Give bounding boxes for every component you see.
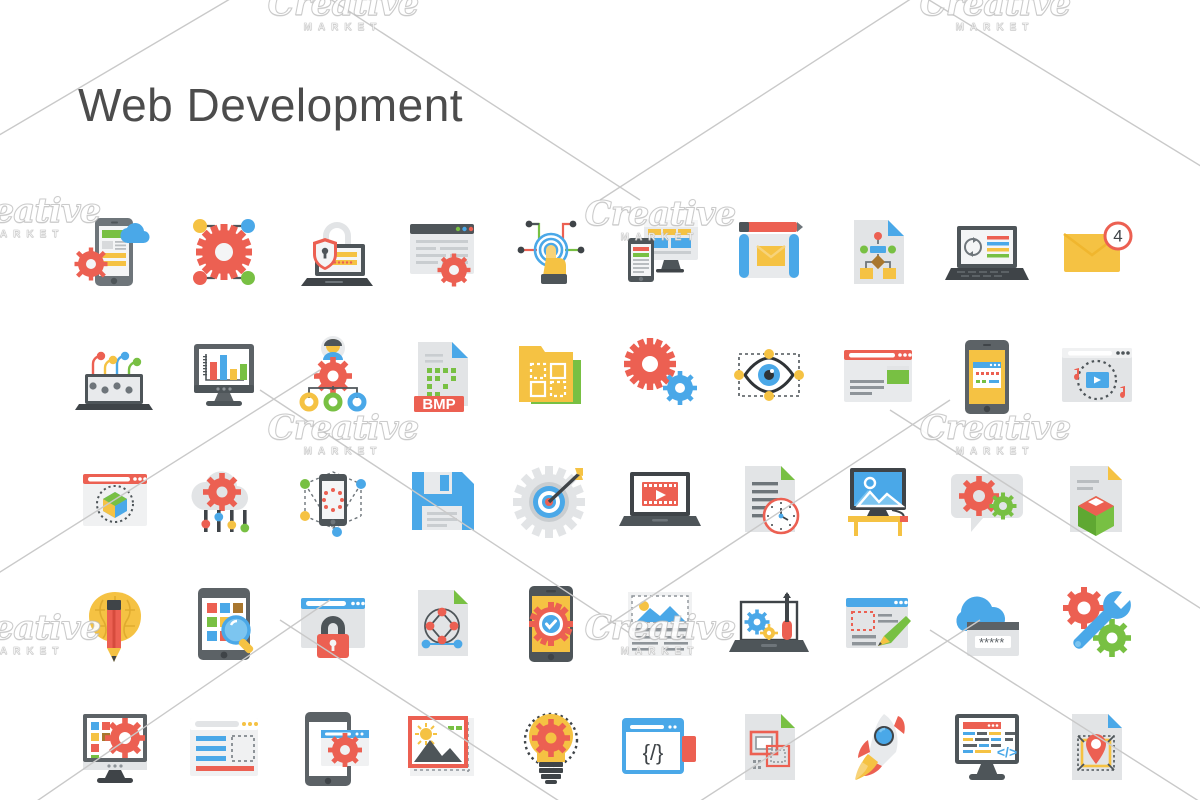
laptop-connections-icon[interactable] <box>60 314 169 438</box>
image-gallery-icon[interactable] <box>387 686 496 810</box>
touch-interaction-icon[interactable] <box>496 190 605 314</box>
monitor-bar-chart-icon[interactable] <box>169 314 278 438</box>
bmp-file-label: BMP <box>422 396 455 413</box>
laptop-maintenance-icon[interactable] <box>714 562 823 686</box>
bmp-file-icon[interactable]: BMP <box>387 314 496 438</box>
browser-code-icon[interactable]: {/} <box>605 686 714 810</box>
email-badge-count: 4 <box>1113 227 1122 246</box>
target-gear-icon[interactable] <box>496 438 605 562</box>
brain-pencil-icon[interactable] <box>60 562 169 686</box>
tablet-browser-gear-icon[interactable] <box>278 686 387 810</box>
laptop-video-icon[interactable] <box>605 438 714 562</box>
gears-settings-icon[interactable] <box>605 314 714 438</box>
browser-wireframe-icon[interactable] <box>169 686 278 810</box>
monitor-code-icon[interactable]: </> <box>932 686 1041 810</box>
monitor-code-text: </> <box>996 744 1016 760</box>
chat-gears-icon[interactable] <box>932 438 1041 562</box>
svg-text:*****: ***** <box>979 635 1004 650</box>
cloud-password-icon[interactable]: ***** <box>932 562 1041 686</box>
watermark-main-text: Creative <box>900 0 1090 20</box>
mobile-webpage-icon[interactable] <box>932 314 1041 438</box>
email-notification-icon[interactable]: 4 <box>1041 190 1150 314</box>
browser-lock-icon[interactable] <box>278 562 387 686</box>
document-vector-node-icon[interactable] <box>387 562 496 686</box>
watermark-main-text: Creative <box>248 0 438 20</box>
browser-content-icon[interactable] <box>823 314 932 438</box>
cloud-gear-settings-icon[interactable] <box>169 438 278 562</box>
mobile-loading-network-icon[interactable] <box>278 438 387 562</box>
icon-grid: 4 <box>60 190 1150 790</box>
mobile-verified-badge-icon[interactable] <box>496 562 605 686</box>
watermark-logo: Creative MARKET <box>248 0 438 33</box>
user-gear-hierarchy-icon[interactable] <box>278 314 387 438</box>
laptop-sync-icon[interactable] <box>932 190 1041 314</box>
email-design-icon[interactable] <box>714 190 823 314</box>
gear-wrench-tools-icon[interactable] <box>1041 562 1150 686</box>
monitor-color-gear-icon[interactable] <box>60 686 169 810</box>
folder-layers-icon[interactable] <box>496 314 605 438</box>
browser-code-text: {/} <box>642 740 663 765</box>
watermark-sub-text: MARKET <box>248 22 438 33</box>
floppy-save-icon[interactable] <box>387 438 496 562</box>
document-3d-box-icon[interactable] <box>1041 438 1150 562</box>
sitemap-file-icon[interactable] <box>823 190 932 314</box>
lightbulb-gear-idea-icon[interactable] <box>496 686 605 810</box>
eye-preview-icon[interactable] <box>714 314 823 438</box>
tablet-app-search-icon[interactable] <box>169 562 278 686</box>
gear-network-icon[interactable] <box>169 190 278 314</box>
browser-3d-box-icon[interactable] <box>60 438 169 562</box>
laptop-security-shield-icon[interactable] <box>278 190 387 314</box>
page-title: Web Development <box>78 82 463 128</box>
browser-settings-icon[interactable] <box>387 190 496 314</box>
browser-media-player-icon[interactable] <box>1041 314 1150 438</box>
desktop-image-workspace-icon[interactable] <box>823 438 932 562</box>
article-layout-icon[interactable] <box>605 562 714 686</box>
browser-design-brush-icon[interactable] <box>823 562 932 686</box>
document-location-pin-icon[interactable] <box>1041 686 1150 810</box>
watermark-logo: Creative MARKET <box>900 0 1090 33</box>
mobile-cloud-settings-icon[interactable] <box>60 190 169 314</box>
watermark-sub-text: MARKET <box>900 22 1090 33</box>
responsive-devices-icon[interactable] <box>605 190 714 314</box>
document-responsive-layout-icon[interactable] <box>714 686 823 810</box>
rocket-launch-icon[interactable] <box>823 686 932 810</box>
icon-set-preview: Web Development <box>0 0 1200 800</box>
document-clock-icon[interactable] <box>714 438 823 562</box>
